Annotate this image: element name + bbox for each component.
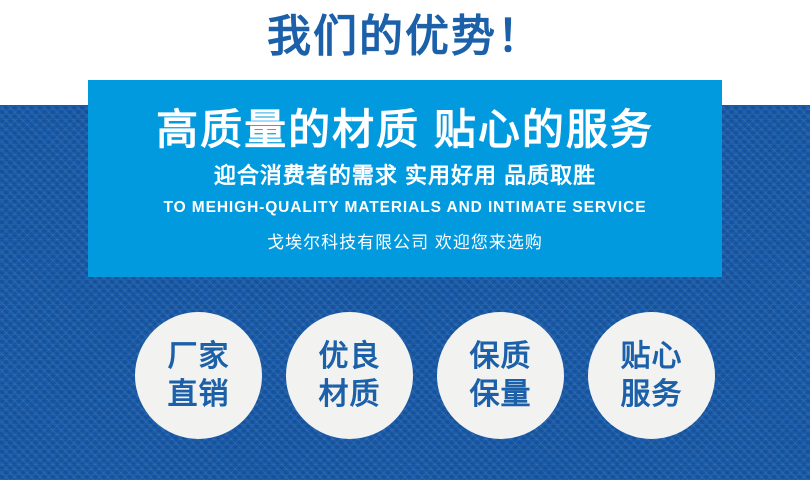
badge-line-2: 材质 <box>319 376 381 414</box>
badge-line-2: 直销 <box>168 376 230 414</box>
badge-line-1: 优良 <box>319 338 381 376</box>
badge-line-1: 保质 <box>470 338 532 376</box>
badge-line-1: 厂家 <box>168 338 230 376</box>
badge-line-2: 保量 <box>470 376 532 414</box>
page-title: 我们的优势！ <box>0 6 810 68</box>
badge-factory-direct: 厂家 直销 <box>135 312 262 439</box>
company-welcome-line: 戈埃尔科技有限公司 欢迎您来选购 <box>88 230 722 256</box>
badge-line-1: 贴心 <box>621 338 683 376</box>
feature-panel: 高质量的材质 贴心的服务 迎合消费者的需求 实用好用 品质取胜 TO MEHIG… <box>88 80 722 277</box>
panel-subtitle-cn: 迎合消费者的需求 实用好用 品质取胜 <box>88 160 722 192</box>
badge-attentive-service: 贴心 服务 <box>588 312 715 439</box>
panel-title: 高质量的材质 贴心的服务 <box>88 102 722 158</box>
advantages-banner: 我们的优势！ 高质量的材质 贴心的服务 迎合消费者的需求 实用好用 品质取胜 T… <box>0 0 810 480</box>
badge-row: 厂家 直销 优良 材质 保质 保量 贴心 服务 <box>0 312 810 440</box>
badge-quality-material: 优良 材质 <box>286 312 413 439</box>
badge-line-2: 服务 <box>621 376 683 414</box>
panel-subtitle-en: TO MEHIGH-QUALITY MATERIALS AND INTIMATE… <box>88 196 722 220</box>
badge-guaranteed-quality: 保质 保量 <box>437 312 564 439</box>
